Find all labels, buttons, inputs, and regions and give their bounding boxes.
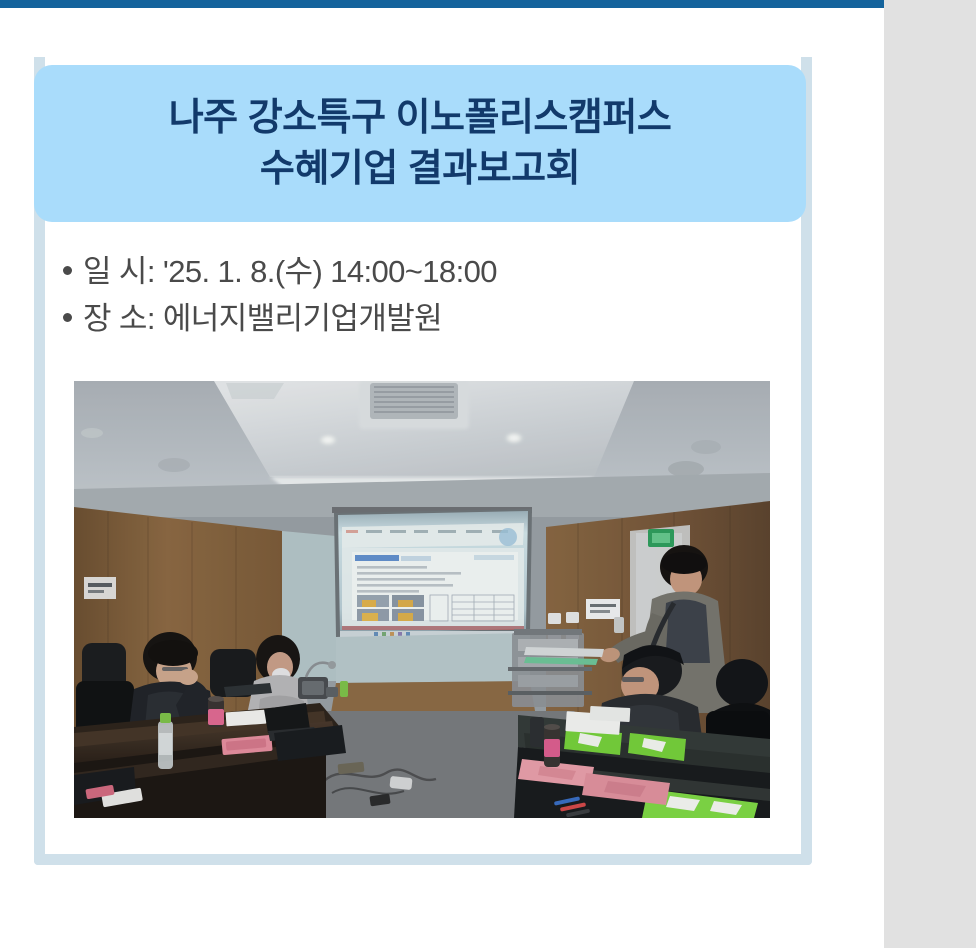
right-gutter-panel — [884, 0, 976, 948]
event-photo-illustration — [74, 381, 770, 818]
event-detail-location: 장 소: 에너지밸리기업개발원 — [63, 295, 763, 342]
event-detail-location-text: 장 소: 에너지밸리기업개발원 — [83, 295, 442, 342]
bullet-icon — [63, 313, 72, 322]
top-accent-bar — [0, 0, 884, 8]
event-detail-datetime: 일 시: '25. 1. 8.(수) 14:00~18:00 — [63, 248, 763, 295]
notice-card-header: 나주 강소특구 이노폴리스캠퍼스 수혜기업 결과보고회 — [34, 65, 806, 222]
event-photo — [74, 381, 770, 818]
bullet-icon — [63, 266, 72, 275]
event-detail-datetime-text: 일 시: '25. 1. 8.(수) 14:00~18:00 — [83, 248, 497, 295]
event-detail-list: 일 시: '25. 1. 8.(수) 14:00~18:00 장 소: 에너지밸… — [63, 248, 763, 342]
page-root: 나주 강소특구 이노폴리스캠퍼스 수혜기업 결과보고회 일 시: '25. 1.… — [0, 0, 976, 948]
page-title: 나주 강소특구 이노폴리스캠퍼스 수혜기업 결과보고회 — [155, 93, 686, 194]
